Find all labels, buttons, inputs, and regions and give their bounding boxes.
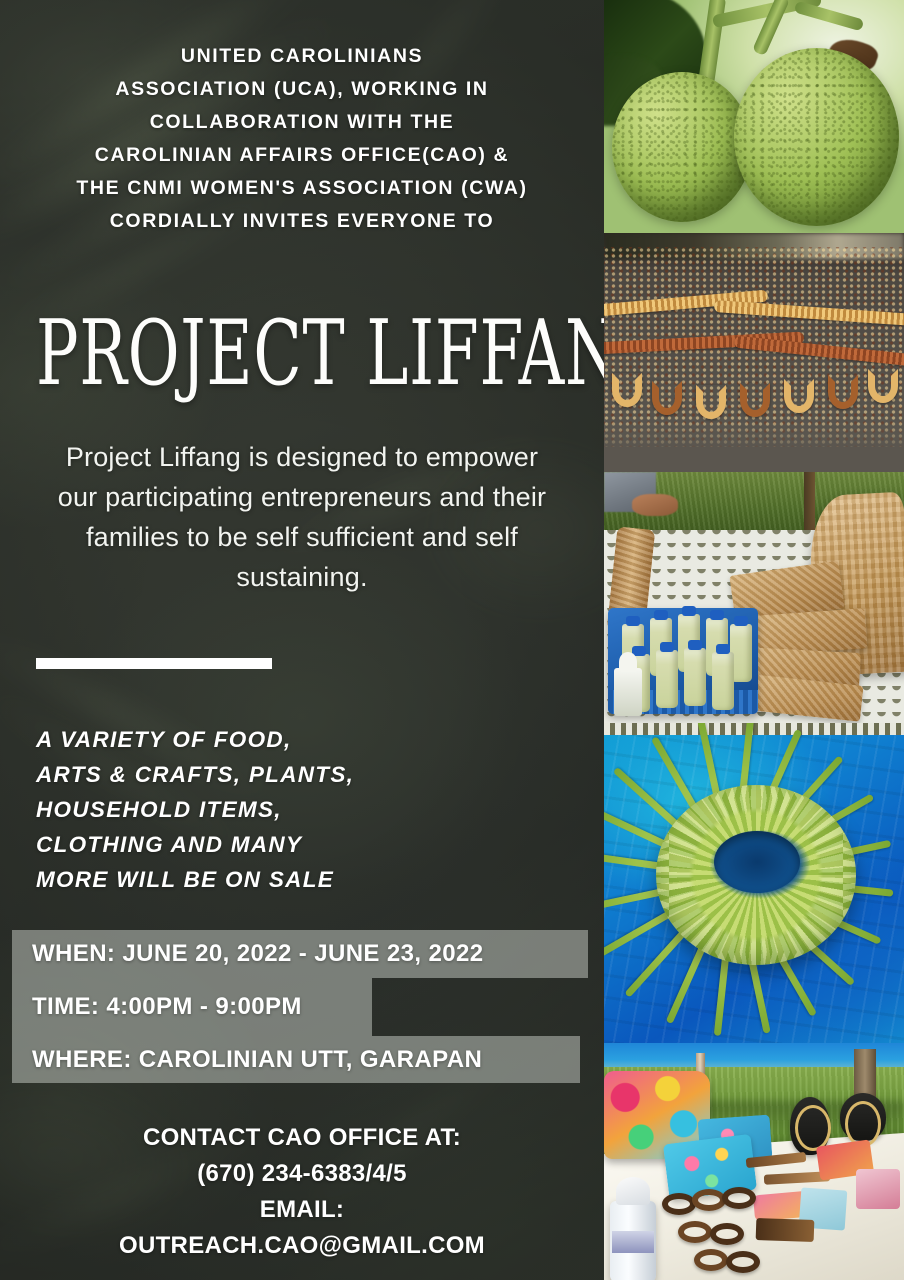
flyer-content: UNITED CAROLINIANS ASSOCIATION (UCA), WO… bbox=[0, 0, 604, 1280]
shell-bangle bbox=[692, 1189, 726, 1211]
offering-line: MORE WILL BE ON SALE bbox=[36, 862, 576, 897]
necklace-display bbox=[840, 1093, 886, 1141]
bead-loop bbox=[612, 373, 642, 407]
vinegar-bottle bbox=[656, 650, 678, 708]
post bbox=[804, 472, 815, 536]
event-title: PROJECT LIFFANG bbox=[36, 300, 467, 408]
header-line: ASSOCIATION (UCA), WORKING IN bbox=[8, 73, 596, 106]
event-date-text: WHEN: JUNE 20, 2022 - JUNE 23, 2022 bbox=[32, 940, 484, 968]
event-date-bar: WHEN: JUNE 20, 2022 - JUNE 23, 2022 bbox=[12, 930, 588, 978]
shell-bangle bbox=[678, 1221, 712, 1243]
person-arm bbox=[632, 494, 678, 516]
photo-beaded-necklaces bbox=[604, 233, 904, 472]
craft-item bbox=[756, 1218, 815, 1242]
event-location-bar: WHERE: CAROLINIAN UTT, GARAPAN bbox=[12, 1036, 580, 1083]
shell-bangle bbox=[694, 1249, 728, 1271]
photo-inner bbox=[604, 0, 904, 233]
contact-line: CONTACT CAO OFFICE AT: bbox=[30, 1120, 574, 1156]
dropper-bottle bbox=[614, 668, 642, 716]
event-description: Project Liffang is designed to empower o… bbox=[50, 437, 554, 597]
shell-bangle bbox=[662, 1193, 696, 1215]
photo-bottles-and-woven-mats bbox=[604, 472, 904, 723]
contact-email: OUTREACH.CAO@GMAIL.COM bbox=[30, 1228, 574, 1264]
event-location-text: WHERE: CAROLINIAN UTT, GARAPAN bbox=[32, 1046, 482, 1074]
bead-loop bbox=[740, 383, 770, 417]
breadfruit bbox=[612, 72, 752, 222]
photo-breadfruit-on-branch bbox=[604, 0, 904, 233]
bead-loop bbox=[828, 375, 858, 409]
shell-bangle bbox=[726, 1251, 760, 1273]
bead-loop bbox=[696, 385, 726, 419]
vinegar-bottle bbox=[684, 648, 706, 706]
offering-line: HOUSEHOLD ITEMS, bbox=[36, 792, 576, 827]
offering-line: CLOTHING AND MANY bbox=[36, 827, 576, 862]
divider-bar bbox=[36, 658, 272, 669]
event-time-text: TIME: 4:00PM - 9:00PM bbox=[32, 993, 302, 1021]
contact-phone: (670) 234-6383/4/5 bbox=[30, 1156, 574, 1192]
offering-line: A VARIETY OF FOOD, bbox=[36, 722, 576, 757]
vinegar-bottle bbox=[712, 652, 734, 710]
event-time-bar: TIME: 4:00PM - 9:00PM bbox=[12, 978, 372, 1036]
offerings-list: A VARIETY OF FOOD, ARTS & CRAFTS, PLANTS… bbox=[36, 722, 576, 897]
bead-loop bbox=[784, 379, 814, 413]
organizer-header: UNITED CAROLINIANS ASSOCIATION (UCA), WO… bbox=[0, 40, 604, 238]
bead-loop bbox=[868, 369, 898, 403]
contact-line: EMAIL: bbox=[30, 1192, 574, 1228]
tablecloth-edge bbox=[604, 723, 904, 735]
photo-inner bbox=[604, 723, 904, 1043]
photo-inner bbox=[604, 233, 904, 472]
photo-craft-vendor-table bbox=[604, 1043, 904, 1280]
craft-item bbox=[856, 1169, 900, 1209]
shell-bangle bbox=[710, 1223, 744, 1245]
photo-column bbox=[604, 0, 904, 1280]
event-flyer: UNITED CAROLINIANS ASSOCIATION (UCA), WO… bbox=[0, 0, 904, 1280]
bead-loop bbox=[652, 381, 682, 415]
header-line: CORDIALLY INVITES EVERYONE TO bbox=[8, 205, 596, 238]
photo-inner bbox=[604, 472, 904, 723]
contact-block: CONTACT CAO OFFICE AT: (670) 234-6383/4/… bbox=[30, 1120, 574, 1264]
breadfruit bbox=[734, 48, 899, 226]
basket-weave-rim bbox=[656, 785, 856, 965]
sanitizer-bottle bbox=[610, 1201, 656, 1280]
offering-line: ARTS & CRAFTS, PLANTS, bbox=[36, 757, 576, 792]
photo-inner bbox=[604, 1043, 904, 1280]
photo-woven-coconut-frond-basket bbox=[604, 723, 904, 1043]
table-shadow bbox=[604, 420, 904, 472]
shell-bangle bbox=[722, 1187, 756, 1209]
header-line: CAROLINIAN AFFAIRS OFFICE(CAO) & bbox=[8, 139, 596, 172]
header-line: COLLABORATION WITH THE bbox=[8, 106, 596, 139]
header-line: UNITED CAROLINIANS bbox=[8, 40, 596, 73]
header-line: THE CNMI WOMEN'S ASSOCIATION (CWA) bbox=[8, 172, 596, 205]
